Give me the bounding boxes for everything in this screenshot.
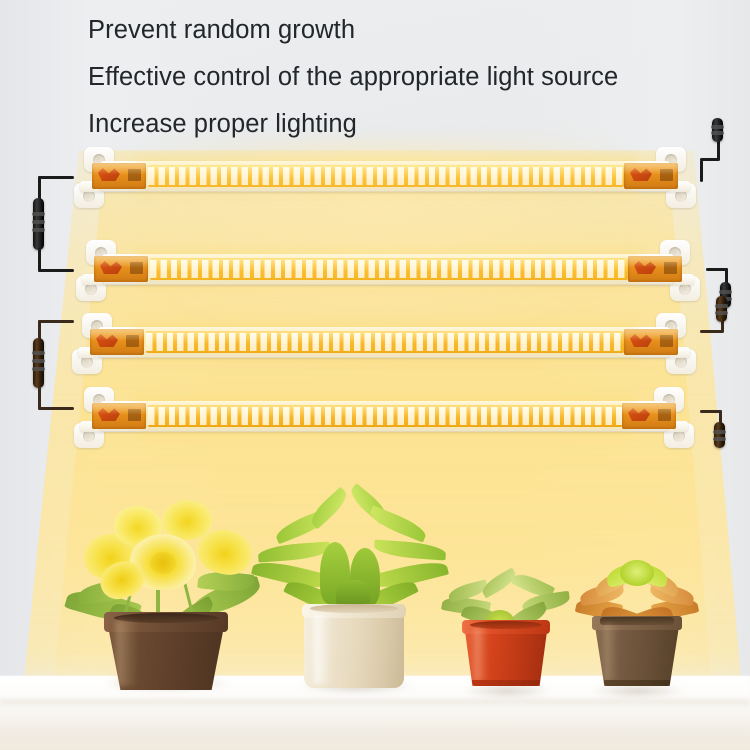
headline-line-1: Prevent random growth	[88, 10, 728, 51]
led-bar-4[interactable]	[60, 392, 708, 438]
product-image: Prevent random growth Effective control …	[0, 0, 750, 750]
led-bar-2[interactable]	[62, 245, 714, 291]
plant-succulent	[572, 556, 702, 702]
plant-small-leafy	[440, 570, 570, 702]
led-chip-strip	[146, 331, 624, 353]
led-chip-strip	[148, 165, 624, 187]
driver-module-right	[624, 163, 678, 189]
headline-line-2: Effective control of the appropriate lig…	[88, 57, 728, 98]
pot-highlight	[604, 624, 618, 682]
frond	[307, 487, 352, 530]
pot-foot	[472, 680, 540, 686]
driver-module-left	[94, 256, 148, 282]
connector-plug-chain-top	[33, 198, 44, 250]
connector-plug-bar1	[712, 118, 723, 142]
frond	[258, 542, 331, 563]
pot-shadow	[462, 684, 552, 698]
driver-module-right	[628, 256, 682, 282]
plant-yellow-flowers	[58, 490, 273, 705]
flower-center	[150, 552, 176, 574]
pot-highlight	[314, 614, 332, 684]
headline-line-3: Increase proper lighting	[88, 104, 728, 145]
driver-module-right	[624, 329, 678, 355]
connector-plug-bar4	[714, 422, 725, 448]
pot-shadow	[590, 684, 686, 698]
frond	[374, 540, 447, 561]
driver-module-left	[90, 329, 144, 355]
pot-inner	[310, 604, 398, 613]
led-chip-strip	[148, 405, 622, 427]
connector-plug-bar3	[716, 296, 727, 322]
led-bar-3[interactable]	[58, 318, 710, 364]
frond	[367, 505, 429, 542]
pot-highlight	[116, 620, 138, 686]
led-bar-1[interactable]	[60, 152, 710, 198]
connector-plug-chain-bottom	[33, 338, 44, 388]
led-chip-strip	[150, 258, 628, 280]
driver-module-left	[92, 403, 146, 429]
driver-module-left	[92, 163, 146, 189]
pot-foot	[604, 680, 670, 686]
succulent-core	[620, 560, 654, 586]
headline-block: Prevent random growth Effective control …	[88, 10, 728, 151]
plant-fern	[250, 492, 450, 704]
pot-highlight	[474, 628, 488, 682]
driver-module-right	[622, 403, 676, 429]
